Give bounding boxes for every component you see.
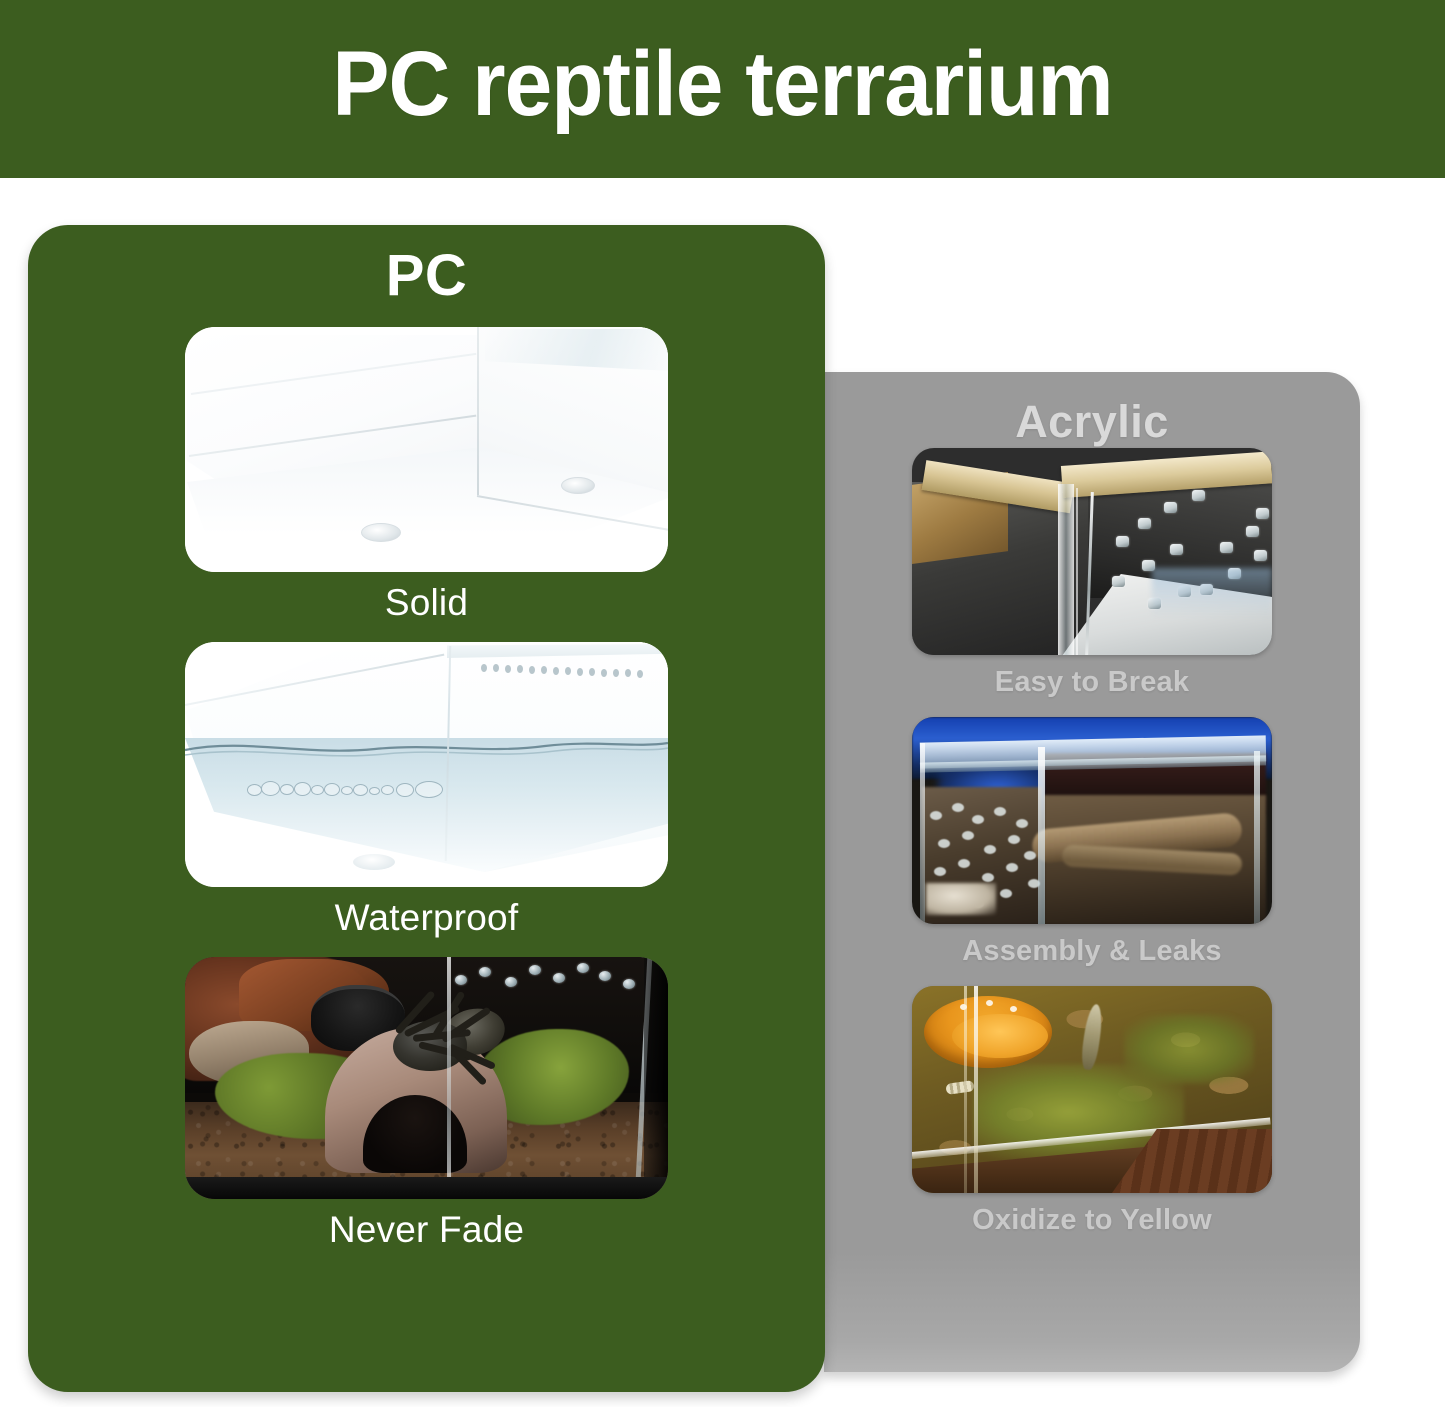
acrylic-leak-illustration — [912, 717, 1272, 924]
water-bubble — [341, 786, 353, 795]
water-tank-foot — [353, 854, 395, 870]
acrylic-vent-hole — [1112, 576, 1125, 587]
substrate-spot — [1006, 863, 1018, 872]
vent-dot — [529, 965, 541, 975]
water-bubble — [247, 784, 262, 796]
water-bubbles — [247, 778, 447, 804]
vent-hole — [565, 667, 571, 675]
leak-seam-middle — [1038, 747, 1045, 924]
terrarium-vent-dots — [449, 961, 639, 999]
pc-feature-label: Never Fade — [185, 1209, 668, 1251]
substrate-spot — [972, 815, 984, 824]
water-bubble — [324, 783, 340, 796]
pc-waterproof-image — [185, 642, 668, 887]
acrylic-break-illustration — [912, 448, 1272, 655]
vent-dot — [623, 979, 635, 989]
acrylic-cracked-corner-image — [912, 448, 1272, 655]
acrylic-vent-hole — [1116, 536, 1129, 547]
acrylic-yellowed-image — [912, 986, 1272, 1193]
acrylic-vent-hole — [1192, 490, 1205, 501]
yellow-seam-secondary — [964, 986, 967, 1193]
acrylic-feature-item: Easy to Break — [912, 448, 1272, 699]
substrate-spot — [1024, 851, 1036, 860]
water-bubble — [396, 783, 414, 797]
terrarium-glass-seam — [447, 957, 451, 1199]
acrylic-vent-hole — [1170, 544, 1183, 555]
acrylic-vent-hole — [1138, 518, 1151, 529]
solid-foot — [561, 477, 595, 494]
vent-hole — [529, 666, 535, 674]
vent-dot — [599, 971, 611, 981]
pc-feature-item: Waterproof — [185, 642, 668, 939]
acrylic-comparison-panel: Acrylic Easy to Break — [824, 372, 1360, 1372]
acrylic-vent-hole — [1254, 550, 1267, 561]
substrate-spot — [1016, 819, 1028, 828]
leak-seam-right — [1254, 751, 1260, 924]
pc-terrarium-image — [185, 957, 668, 1199]
acrylic-vent-hole — [1164, 502, 1177, 513]
vent-hole — [505, 665, 511, 673]
pc-comparison-panel: PC Solid — [28, 225, 825, 1392]
yellow-seam — [974, 986, 978, 1193]
vent-dot — [505, 977, 517, 987]
page-title: PC reptile terrarium — [332, 38, 1112, 140]
water-bubble — [311, 785, 324, 795]
yellow-dish-bead — [1010, 1006, 1017, 1012]
vent-dot — [479, 967, 491, 977]
terrarium-base — [185, 1177, 668, 1199]
vent-hole — [481, 664, 487, 672]
substrate-spot — [1000, 889, 1012, 898]
break-corner-post — [1058, 484, 1074, 655]
leak-seam-left — [920, 743, 925, 923]
pc-feature-item: Never Fade — [185, 957, 668, 1251]
water-bubble — [353, 784, 368, 796]
pc-feature-item: Solid — [185, 327, 668, 624]
vent-hole — [541, 666, 547, 674]
solid-corner-seam — [477, 327, 479, 495]
vent-dot — [577, 963, 589, 973]
acrylic-feature-label: Easy to Break — [912, 666, 1272, 699]
acrylic-feature-item: Oxidize to Yellow — [912, 986, 1272, 1237]
substrate-spot — [930, 811, 942, 820]
yellow-water-dish — [924, 996, 1052, 1068]
acrylic-vent-hole — [1246, 526, 1259, 537]
acrylic-panel-heading: Acrylic — [824, 396, 1360, 448]
vent-hole — [577, 668, 583, 676]
substrate-spot — [938, 839, 950, 848]
water-bubble — [415, 781, 443, 798]
solid-foot — [361, 523, 401, 542]
yellow-dish-bead — [986, 1000, 993, 1006]
substrate-spot — [982, 873, 994, 882]
vent-hole — [613, 669, 619, 677]
pc-terrarium-illustration — [185, 957, 668, 1199]
vent-hole — [517, 665, 523, 673]
pc-solid-illustration — [185, 327, 668, 572]
water-bubble — [381, 785, 394, 795]
vent-hole — [637, 670, 643, 678]
substrate-spot — [994, 807, 1006, 816]
break-crack-secondary — [1076, 488, 1078, 655]
pc-panel-heading: PC — [28, 247, 825, 305]
vent-hole — [493, 664, 499, 672]
vent-hole — [589, 668, 595, 676]
pc-water-illustration — [185, 642, 668, 887]
water-bubble — [369, 787, 380, 795]
substrate-spot — [984, 845, 996, 854]
break-blue-reflection — [1152, 568, 1272, 618]
substrate-spot — [958, 859, 970, 868]
water-vent-holes — [481, 664, 651, 676]
water-bubble — [280, 784, 294, 795]
substrate-spot — [934, 867, 946, 876]
acrylic-feature-label: Oxidize to Yellow — [912, 1204, 1272, 1237]
water-bubble — [261, 781, 280, 796]
acrylic-feature-item: Assembly & Leaks — [912, 717, 1272, 968]
pc-feature-label: Solid — [185, 582, 668, 624]
vent-dot — [553, 973, 565, 983]
acrylic-leaks-image — [912, 717, 1272, 924]
terrarium-right-shadow — [644, 957, 668, 1199]
header-banner: PC reptile terrarium — [0, 0, 1445, 178]
water-surface-wave — [185, 734, 668, 760]
acrylic-vent-hole — [1256, 508, 1269, 519]
pc-feature-label: Waterproof — [185, 897, 668, 939]
terrarium-tarantula — [335, 995, 505, 1099]
yellow-moss-secondary — [1124, 1014, 1254, 1084]
water-bubble — [294, 782, 311, 796]
vent-hole — [601, 669, 607, 677]
substrate-spot — [1008, 835, 1020, 844]
leak-white-patch — [926, 883, 996, 915]
vent-dot — [455, 975, 467, 985]
acrylic-vent-hole — [1220, 542, 1233, 553]
pc-corner-image — [185, 327, 668, 572]
substrate-spot — [952, 803, 964, 812]
vent-hole — [553, 667, 559, 675]
substrate-spot — [962, 831, 974, 840]
acrylic-yellow-illustration — [912, 986, 1272, 1193]
acrylic-feature-label: Assembly & Leaks — [912, 935, 1272, 968]
